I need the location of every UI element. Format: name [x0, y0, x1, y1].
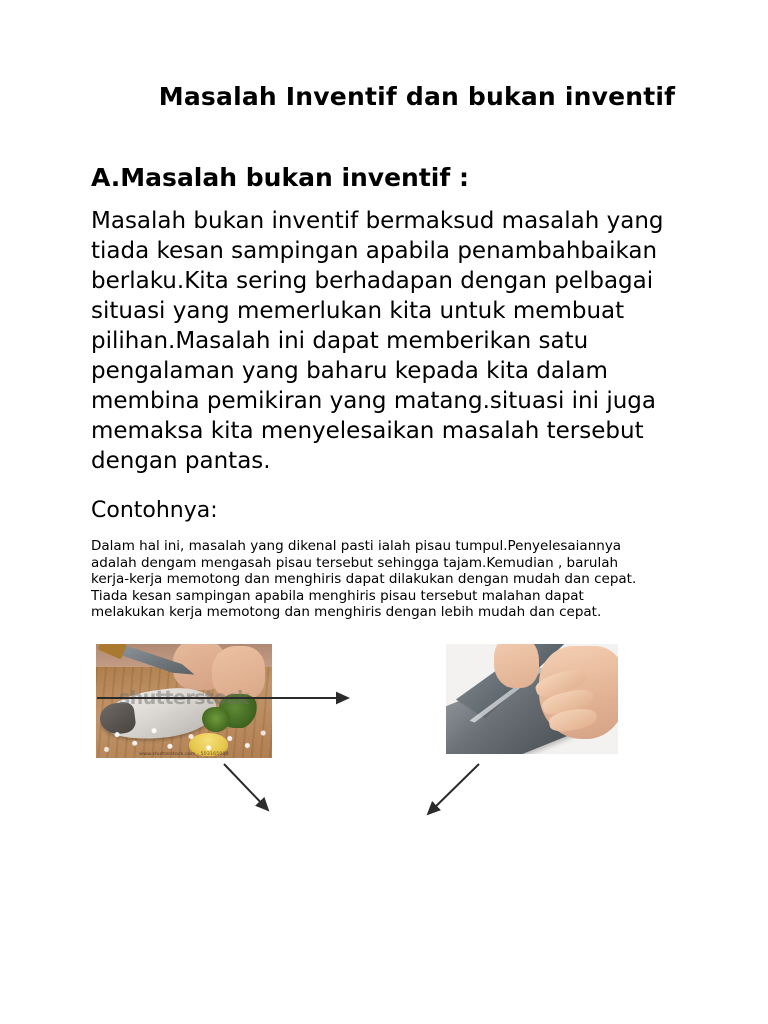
body-line: pengalaman yang baharu kepada kita dalam [91, 356, 691, 386]
body-line: berlaku.Kita sering berhadapan dengan pe… [91, 266, 691, 296]
example-line: Dalam hal ini, masalah yang dikenal past… [91, 538, 691, 555]
document-page: Masalah Inventif dan bukan inventif A.Ma… [0, 0, 768, 1024]
figure-cutting-fish-image: shutterstock www.shutterstock.com · 5031… [96, 644, 272, 758]
arrow-down-left-figure [224, 764, 268, 810]
body-line: tiada kesan sampingan apabila penambahba… [91, 236, 691, 266]
body-paragraph: Masalah bukan inventif bermaksud masalah… [91, 206, 691, 476]
example-line: melakukan kerja memotong dan menghiris d… [91, 604, 691, 621]
shutterstock-watermark: shutterstock [96, 687, 272, 709]
stock-photo-credit: www.shutterstock.com · 503165000 [96, 752, 272, 757]
example-line: Tiada kesan sampingan apabila menghiris … [91, 588, 691, 605]
body-line: Masalah bukan inventif bermaksud masalah… [91, 206, 691, 236]
hand-icon [494, 644, 539, 688]
section-heading: A.Masalah bukan inventif : [91, 163, 469, 193]
body-line: dengan pantas. [91, 446, 691, 476]
page-title: Masalah Inventif dan bukan inventif [0, 83, 768, 112]
example-line: kerja-kerja memotong dan menghiris dapat… [91, 571, 691, 588]
arrow-down-right-figure [428, 764, 479, 814]
body-line: memaksa kita menyelesaikan masalah terse… [91, 416, 691, 446]
whetstone-photo-scene [446, 644, 618, 754]
body-line: membina pemikiran yang matang.situasi in… [91, 386, 691, 416]
fish-photo-scene: shutterstock www.shutterstock.com · 5031… [96, 644, 272, 758]
example-line: adalah dengam mengasah pisau tersebut se… [91, 555, 691, 572]
figure-sharpening-knife-image [446, 644, 618, 754]
sub-heading-contohnya: Contohnya: [91, 498, 218, 524]
body-line: situasi yang memerlukan kita untuk membu… [91, 296, 691, 326]
body-line: pilihan.Masalah ini dapat memberikan sat… [91, 326, 691, 356]
example-paragraph: Dalam hal ini, masalah yang dikenal past… [91, 538, 691, 621]
